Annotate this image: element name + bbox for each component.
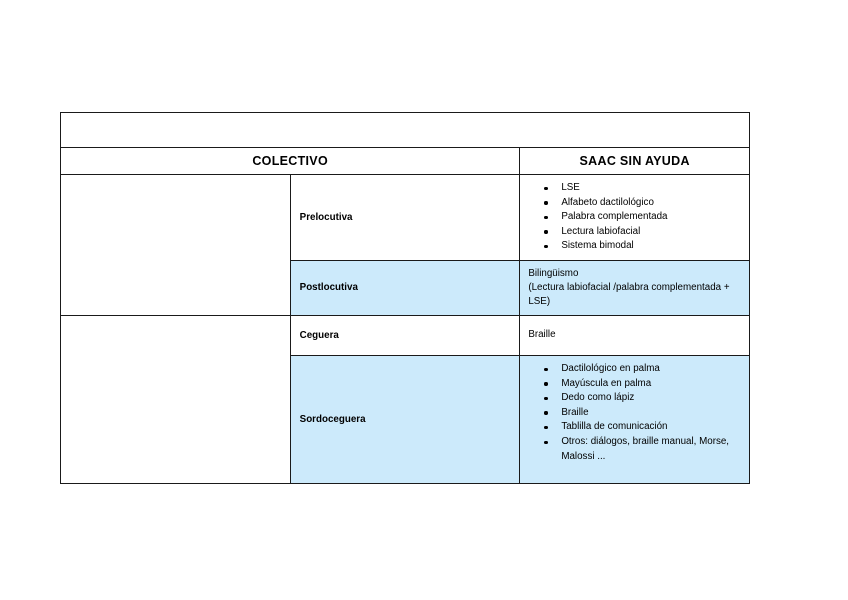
table-title-row: DIVERSIDAD FUNCIONAL SENSORIAL xyxy=(61,113,750,148)
content-line: Braille xyxy=(528,329,555,340)
group-cell-visual: VISUAL xyxy=(61,315,291,483)
list-item: Sistema bimodal xyxy=(520,239,743,254)
table-title-cell: DIVERSIDAD FUNCIONAL SENSORIAL xyxy=(61,113,750,148)
page-canvas: DIVERSIDAD FUNCIONAL SENSORIAL COLECTIVO… xyxy=(0,0,848,600)
content-cell-sordoceguera: Dactilológico en palma Mayúscula en palm… xyxy=(520,355,750,483)
subgroup-label-ceguera: Ceguera xyxy=(291,330,520,341)
sensory-diversity-table-wrapper: DIVERSIDAD FUNCIONAL SENSORIAL COLECTIVO… xyxy=(60,112,750,484)
list-item: Dedo como lápiz xyxy=(520,391,743,406)
list-item: Palabra complementada xyxy=(520,210,743,225)
subgroup-cell-ceguera: Ceguera xyxy=(290,315,520,355)
table-header-row: COLECTIVO SAAC SIN AYUDA xyxy=(61,148,750,175)
column-header-saac-label: SAAC SIN AYUDA xyxy=(520,148,749,174)
content-cell-prelocutiva: LSE Alfabeto dactilológico Palabra compl… xyxy=(520,175,750,261)
list-item: LSE xyxy=(520,181,743,196)
list-item: Alfabeto dactilológico xyxy=(520,196,743,211)
subgroup-cell-postlocutiva: Postlocutiva xyxy=(290,260,520,315)
subgroup-cell-prelocutiva: Prelocutiva xyxy=(290,175,520,261)
subgroup-label-prelocutiva: Prelocutiva xyxy=(291,212,520,223)
content-cell-postlocutiva: Bilingüismo (Lectura labiofacial /palabr… xyxy=(520,260,750,315)
table-row: AUDITIVA Prelocutiva LSE Alfabeto dactil… xyxy=(61,175,750,261)
list-item: Dactilológico en palma xyxy=(520,362,743,377)
group-label-auditiva: AUDITIVA xyxy=(61,239,290,250)
column-header-collective-label: COLECTIVO xyxy=(61,148,519,174)
list-item: Braille xyxy=(520,406,743,421)
group-label-visual: VISUAL xyxy=(61,394,290,405)
subgroup-label-sordoceguera: Sordoceguera xyxy=(291,414,520,425)
content-text-ceguera: Braille xyxy=(520,316,749,348)
list-item: Lectura labiofacial xyxy=(520,225,743,240)
column-header-saac: SAAC SIN AYUDA xyxy=(520,148,750,175)
bullet-list-prelocutiva: LSE Alfabeto dactilológico Palabra compl… xyxy=(520,175,749,260)
group-cell-auditiva: AUDITIVA xyxy=(61,175,291,316)
content-line: Bilingüismo xyxy=(528,268,578,279)
list-item: Tablilla de comunicación xyxy=(520,420,743,435)
sensory-diversity-table: DIVERSIDAD FUNCIONAL SENSORIAL COLECTIVO… xyxy=(60,112,750,484)
subgroup-cell-sordoceguera: Sordoceguera xyxy=(290,355,520,483)
bullet-list-sordoceguera: Dactilológico en palma Mayúscula en palm… xyxy=(520,356,749,470)
table-title-text: DIVERSIDAD FUNCIONAL SENSORIAL xyxy=(61,113,749,147)
table-row: VISUAL Ceguera Braille xyxy=(61,315,750,355)
list-item: Otros: diálogos, braille manual, Morse, … xyxy=(520,435,743,464)
column-header-collective: COLECTIVO xyxy=(61,148,520,175)
list-item: Mayúscula en palma xyxy=(520,377,743,392)
subgroup-label-postlocutiva: Postlocutiva xyxy=(291,282,520,293)
content-cell-ceguera: Braille xyxy=(520,315,750,355)
content-text-postlocutiva: Bilingüismo (Lectura labiofacial /palabr… xyxy=(520,261,749,315)
content-line: (Lectura labiofacial /palabra complement… xyxy=(528,282,729,307)
